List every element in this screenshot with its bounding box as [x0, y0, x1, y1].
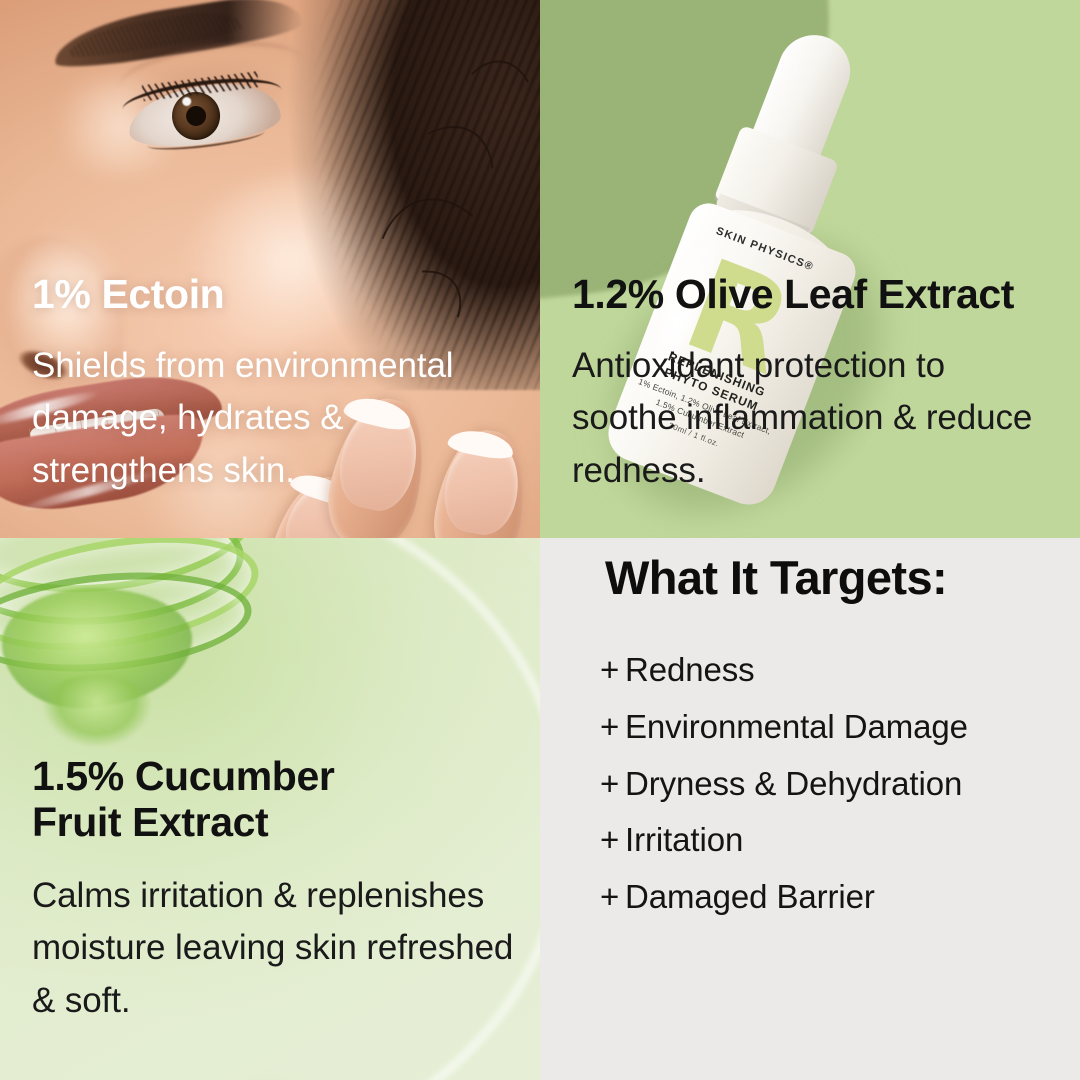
cucumber-heading-line2: Fruit Extract — [32, 799, 268, 845]
target-item: +Irritation — [600, 812, 1056, 869]
plus-icon: + — [600, 699, 625, 756]
ectoin-body: Shields from environmental damage, hydra… — [32, 340, 514, 498]
targets-title: What It Targets: — [605, 550, 947, 605]
cucumber-heading-line1: 1.5% Cucumber — [32, 753, 334, 799]
target-item-label: Irritation — [625, 821, 743, 858]
plus-icon: + — [600, 869, 625, 926]
olive-leaf-heading: 1.2% Olive Leaf Extract — [572, 272, 1054, 318]
target-item-label: Dryness & Dehydration — [625, 765, 962, 802]
cucumber-heading: 1.5% Cucumber Fruit Extract — [32, 754, 514, 846]
target-item: +Environmental Damage — [600, 699, 1056, 756]
olive-leaf-body: Antioxidant protection to soothe inflamm… — [572, 340, 1054, 498]
panel-cucumber: 1.5% Cucumber Fruit Extract Calms irrita… — [0, 538, 540, 1080]
target-item: +Dryness & Dehydration — [600, 756, 1056, 813]
target-item-label: Redness — [625, 651, 755, 688]
gel-swirl — [0, 538, 260, 720]
plus-icon: + — [600, 642, 625, 699]
panel-targets: What It Targets: +Redness +Environmental… — [540, 538, 1080, 1080]
panel-ectoin: 1% Ectoin Shields from environmental dam… — [0, 0, 540, 538]
ectoin-text-block: 1% Ectoin Shields from environmental dam… — [32, 272, 514, 497]
target-item: +Damaged Barrier — [600, 869, 1056, 926]
plus-icon: + — [600, 812, 625, 869]
panel-olive-leaf: SKIN PHYSICS® R REPLENISHING PHYTO SERUM… — [540, 0, 1080, 538]
ectoin-heading: 1% Ectoin — [32, 272, 514, 318]
plus-icon: + — [600, 756, 625, 813]
target-item-label: Environmental Damage — [625, 708, 968, 745]
cucumber-text-block: 1.5% Cucumber Fruit Extract Calms irrita… — [32, 754, 514, 1027]
cucumber-body: Calms irritation & replenishes moisture … — [32, 870, 514, 1028]
target-item-label: Damaged Barrier — [625, 878, 875, 915]
targets-list: +Redness +Environmental Damage +Dryness … — [600, 642, 1056, 926]
target-item: +Redness — [600, 642, 1056, 699]
ingredient-infographic: 1% Ectoin Shields from environmental dam… — [0, 0, 1080, 1080]
olive-leaf-text-block: 1.2% Olive Leaf Extract Antioxidant prot… — [572, 272, 1054, 497]
